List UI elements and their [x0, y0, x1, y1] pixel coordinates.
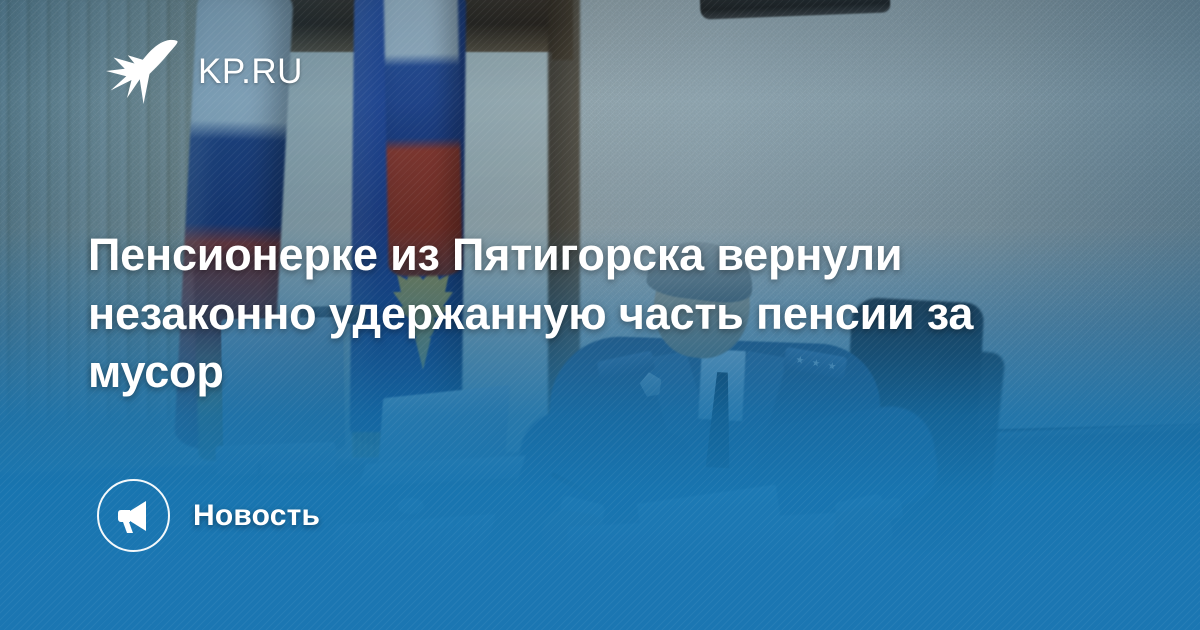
page-title: Пенсионерке из Пятигорска вернули незако… [88, 226, 1104, 402]
news-share-card: KP.RU Пенсионерке из Пятигорска вернули … [0, 0, 1200, 630]
brand-lockup[interactable]: KP.RU [104, 35, 303, 107]
badge-icon-circle [97, 479, 170, 552]
brand-name: KP.RU [198, 54, 303, 89]
status-badge[interactable]: Новость [97, 479, 320, 552]
status-badge-label: Новость [193, 501, 320, 531]
card-content: KP.RU Пенсионерке из Пятигорска вернули … [0, 0, 1200, 630]
swallow-bird-icon [104, 35, 180, 107]
megaphone-icon [114, 496, 154, 536]
